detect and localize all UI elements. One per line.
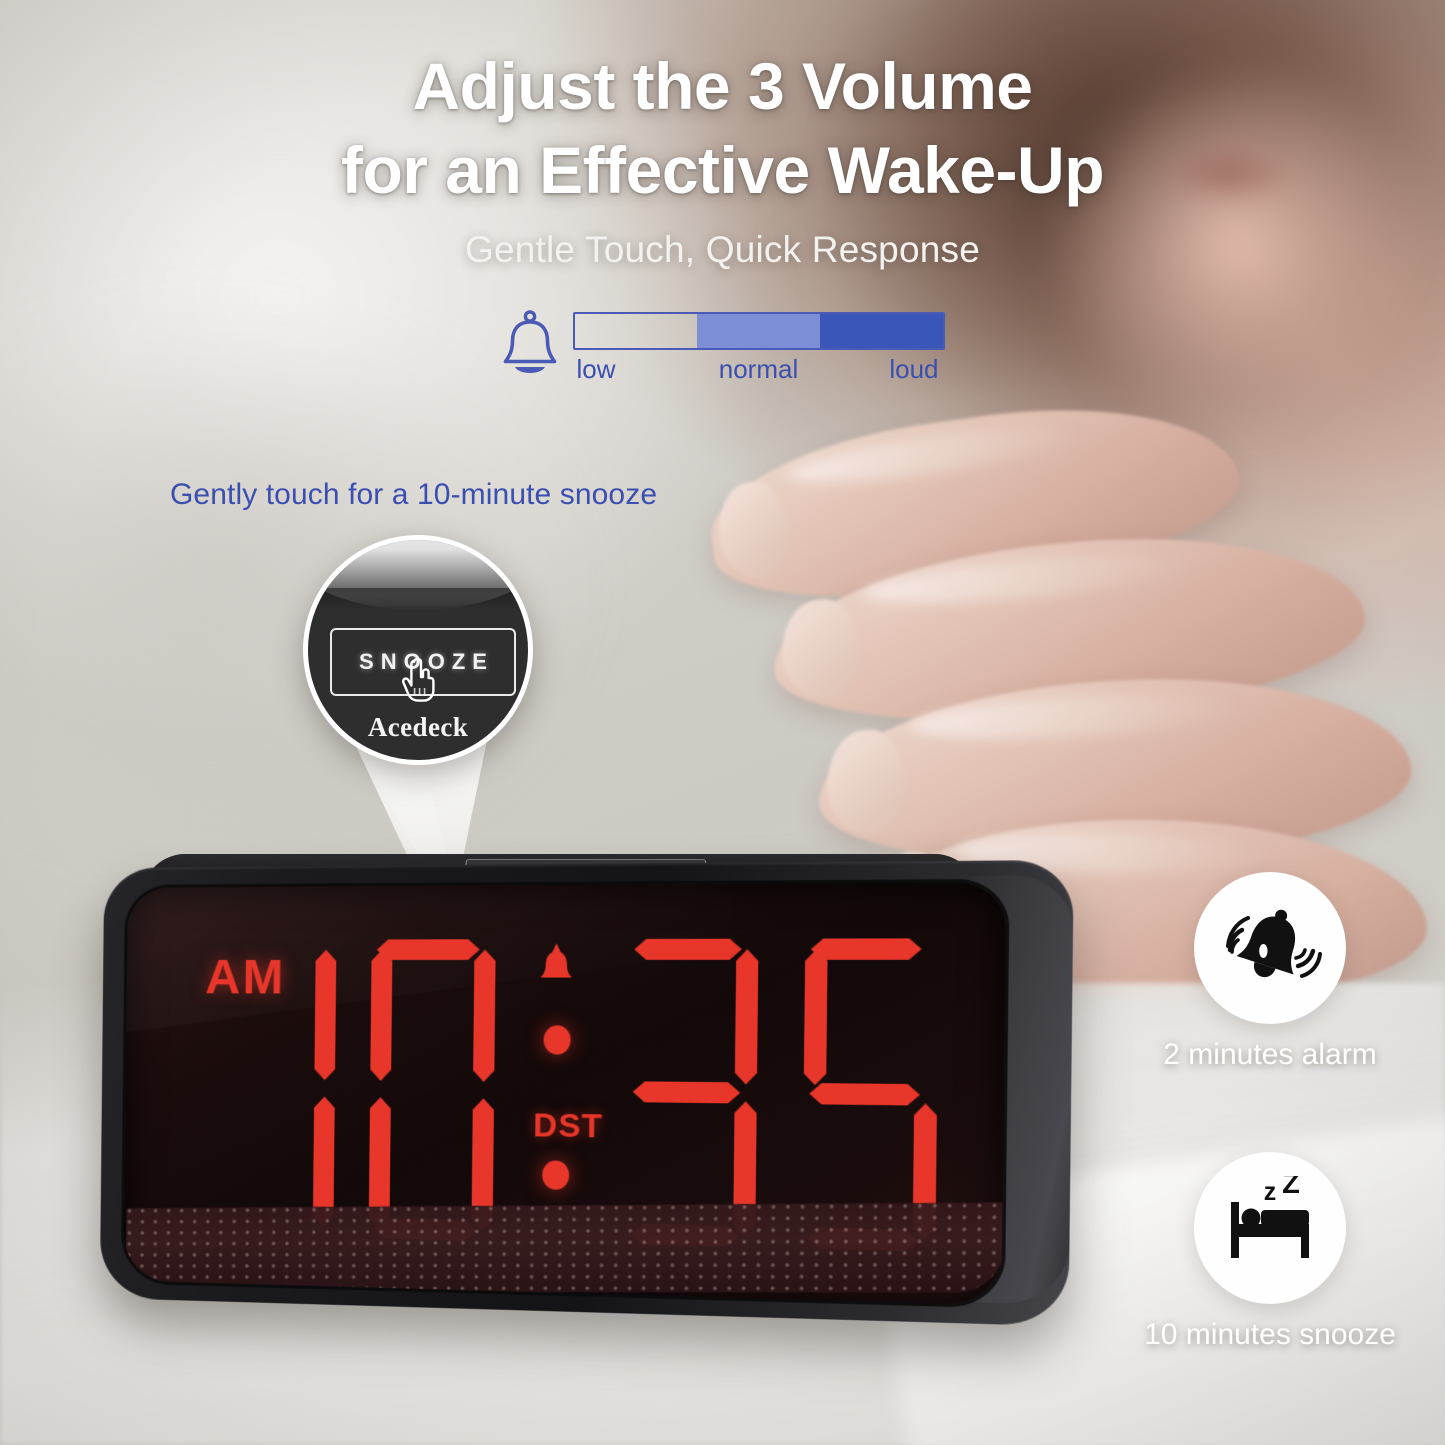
magnifier-brand: Acedeck <box>308 712 528 743</box>
volume-segment-low[interactable] <box>575 314 698 348</box>
snooze-magnifier: SNOOZE Acedeck <box>303 535 533 765</box>
page-headline: Adjust the 3 Volume for an Effective Wak… <box>0 44 1445 213</box>
clock-body: AM DST <box>100 860 1074 1327</box>
ringing-bell-icon <box>1218 896 1322 1000</box>
volume-label-normal: normal <box>719 354 798 385</box>
led-display: AM DST <box>124 882 1006 1305</box>
pointing-hand-icon <box>400 658 436 702</box>
snooze-callout-text: Gently touch for a 10-minute snooze <box>170 478 657 512</box>
page-subheadline: Gentle Touch, Quick Response <box>0 229 1445 271</box>
volume-segment-loud[interactable] <box>820 314 943 348</box>
alarm-clock-device: SNOOZE Acedeck AM DST <box>92 838 1012 1300</box>
volume-segment-normal[interactable] <box>697 314 820 348</box>
svg-text:Z: Z <box>1282 1176 1300 1200</box>
feature-label: 10 minutes snooze <box>1120 1318 1420 1352</box>
digit-hour-ones <box>354 939 500 1241</box>
feature-icon-circle: z Z <box>1194 1152 1346 1304</box>
volume-label-loud: loud <box>889 354 938 385</box>
headline-line-2: for an Effective Wake-Up <box>0 128 1445 212</box>
volume-bar[interactable] <box>573 312 945 350</box>
headline-line-1: Adjust the 3 Volume <box>412 49 1032 123</box>
feature-label: 2 minutes alarm <box>1120 1038 1420 1072</box>
magnifier-shadow <box>308 588 528 610</box>
volume-control: low normal loud <box>0 312 1445 386</box>
feature-alarm-duration: 2 minutes alarm <box>1120 872 1420 1072</box>
volume-labels: low normal loud <box>573 354 945 386</box>
svg-text:z: z <box>1264 1178 1277 1206</box>
volume-label-low: low <box>577 354 616 385</box>
bell-icon <box>501 310 559 380</box>
volume-slider[interactable]: low normal loud <box>573 312 945 386</box>
speaker-grille <box>126 1202 1005 1293</box>
digit-minute-tens <box>610 939 763 1248</box>
feature-icon-circle <box>1194 872 1346 1024</box>
bed-sleep-icon: z Z <box>1218 1176 1322 1280</box>
feature-snooze-duration: z Z 10 minutes snooze <box>1120 1152 1420 1352</box>
